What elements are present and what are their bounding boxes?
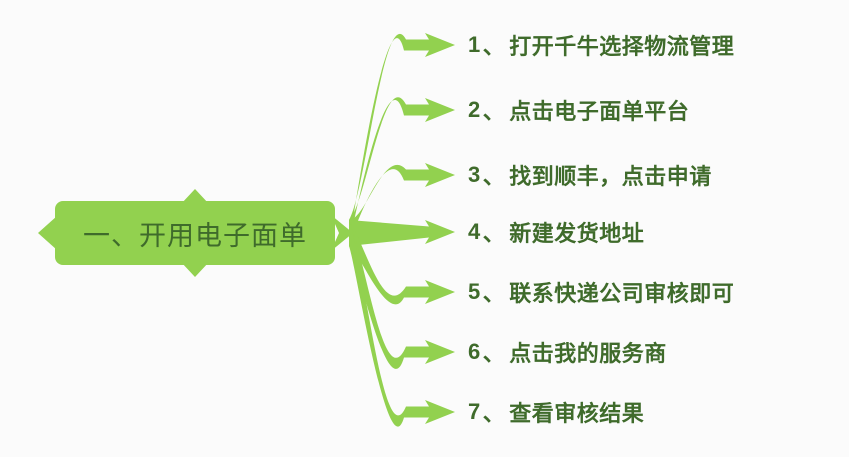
topic-index-2: 2 bbox=[468, 97, 481, 123]
topic-1[interactable]: 1、打开千牛选择物流管理 bbox=[468, 29, 734, 61]
topic-label-1: 打开千牛选择物流管理 bbox=[509, 29, 734, 61]
central-node-label: 一、开用电子面单 bbox=[55, 201, 335, 265]
topic-index-3: 3 bbox=[468, 162, 481, 188]
topic-5[interactable]: 5、联系快递公司审核即可 bbox=[468, 276, 734, 308]
labels-layer: 一、开用电子面单 1、打开千牛选择物流管理2、点击电子面单平台3、找到顺丰，点击… bbox=[0, 0, 849, 457]
topic-6[interactable]: 6、点击我的服务商 bbox=[468, 336, 667, 368]
topic-label-5: 联系快递公司审核即可 bbox=[509, 276, 734, 308]
topic-label-6: 点击我的服务商 bbox=[509, 336, 667, 368]
topic-index-5: 5 bbox=[468, 279, 481, 305]
topic-label-2: 点击电子面单平台 bbox=[509, 94, 689, 126]
topic-separator: 、 bbox=[483, 396, 506, 428]
topic-separator: 、 bbox=[483, 336, 506, 368]
topic-separator: 、 bbox=[483, 216, 506, 248]
topic-separator: 、 bbox=[483, 159, 506, 191]
topic-separator: 、 bbox=[483, 276, 506, 308]
topic-label-7: 查看审核结果 bbox=[509, 396, 644, 428]
topic-index-1: 1 bbox=[468, 32, 481, 58]
topic-index-4: 4 bbox=[468, 219, 481, 245]
topic-index-6: 6 bbox=[468, 339, 481, 365]
topic-separator: 、 bbox=[483, 94, 506, 126]
topic-7[interactable]: 7、查看审核结果 bbox=[468, 396, 644, 428]
topic-label-3: 找到顺丰，点击申请 bbox=[509, 159, 712, 191]
mind-map-canvas: 一、开用电子面单 1、打开千牛选择物流管理2、点击电子面单平台3、找到顺丰，点击… bbox=[0, 0, 849, 457]
topic-label-4: 新建发货地址 bbox=[509, 216, 644, 248]
topic-index-7: 7 bbox=[468, 399, 481, 425]
topic-4[interactable]: 4、新建发货地址 bbox=[468, 216, 644, 248]
topic-2[interactable]: 2、点击电子面单平台 bbox=[468, 94, 689, 126]
topic-3[interactable]: 3、找到顺丰，点击申请 bbox=[468, 159, 712, 191]
topic-separator: 、 bbox=[483, 29, 506, 61]
